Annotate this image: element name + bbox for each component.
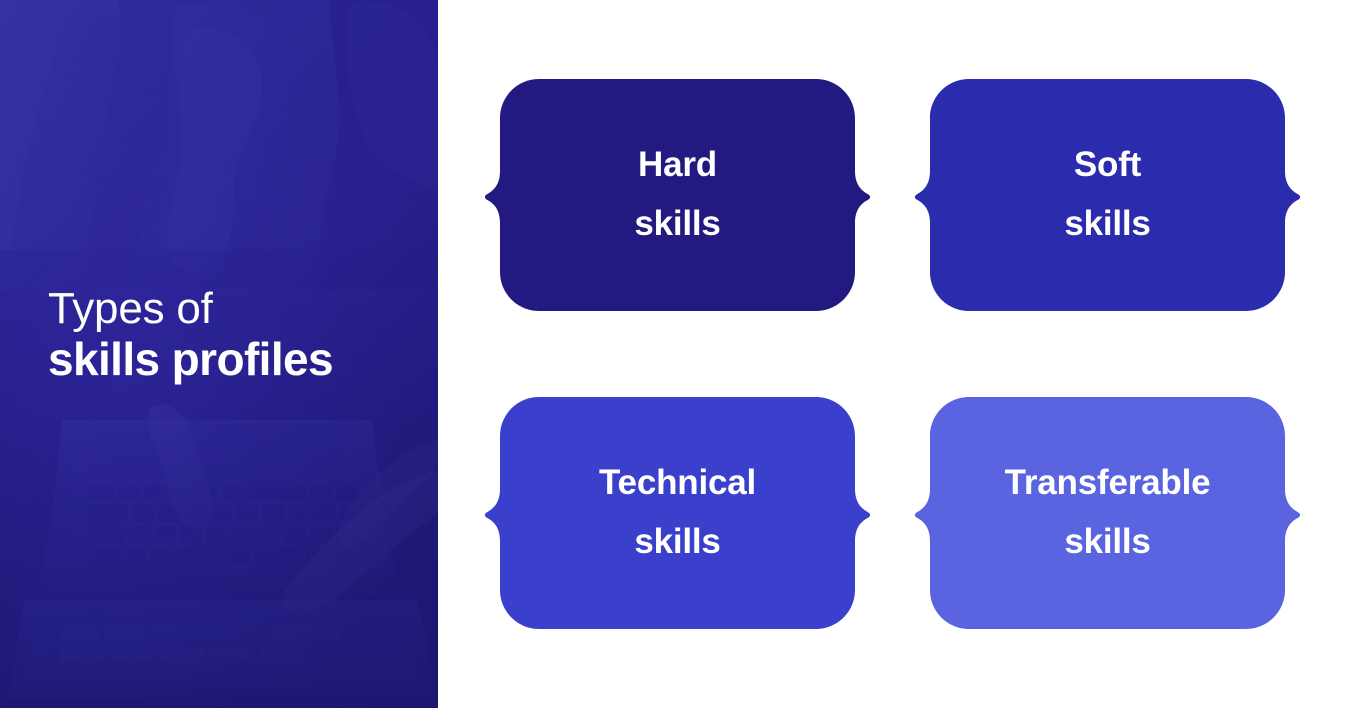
left-panel: Types of skills profiles — [0, 0, 438, 708]
card-transferable-skills[interactable]: Transferable skills — [913, 388, 1302, 638]
card-soft-skills[interactable]: Soft skills — [913, 70, 1302, 320]
card-technical-skills[interactable]: Technical skills — [483, 388, 872, 638]
card-shape-transferable-skills — [915, 397, 1300, 629]
card-shape-soft-skills — [915, 79, 1300, 311]
title-line-2: skills profiles — [48, 335, 420, 385]
slide-canvas: Types of skills profiles Hard skills Sof… — [0, 0, 1348, 708]
card-shape-hard-skills — [485, 79, 870, 311]
slide-title: Types of skills profiles — [48, 286, 420, 384]
title-line-1: Types of — [48, 286, 420, 333]
skills-card-grid: Hard skills Soft skills Technical skills — [438, 0, 1348, 708]
card-shape-technical-skills — [485, 397, 870, 629]
card-hard-skills[interactable]: Hard skills — [483, 70, 872, 320]
